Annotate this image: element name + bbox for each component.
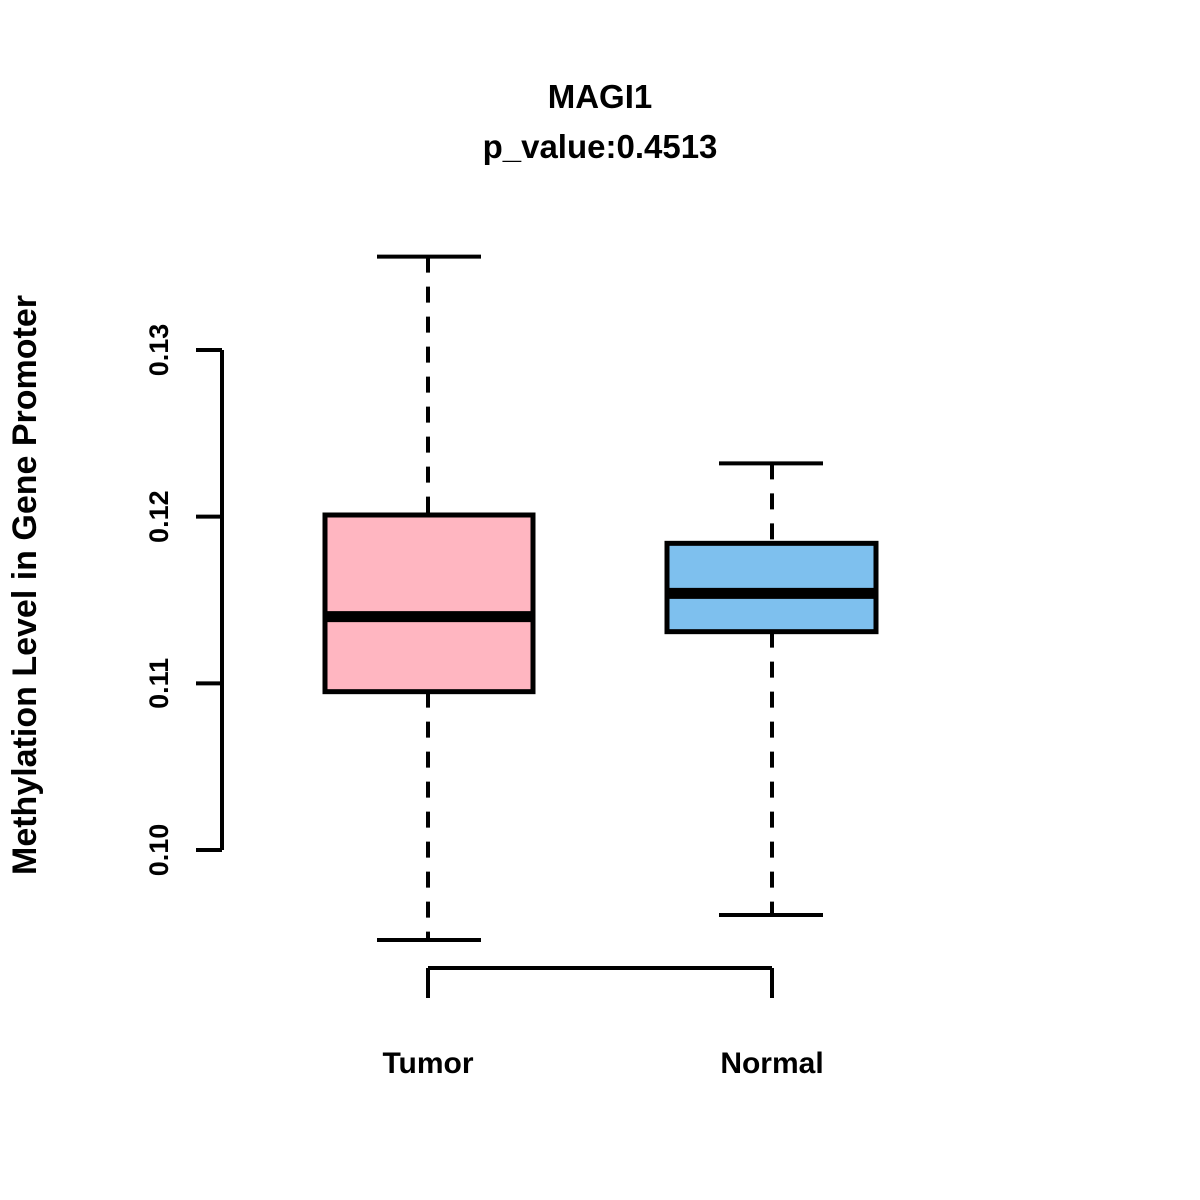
y-axis-title: Methylation Level in Gene Promoter (6, 295, 44, 875)
x-tick-label-tumor: Tumor (382, 1047, 473, 1080)
x-tick-label-normal: Normal (720, 1047, 823, 1080)
chart-subtitle: p_value:0.4513 (483, 128, 718, 165)
boxplot-figure: MAGI1 p_value:0.4513 Methylation Level i… (0, 0, 1200, 1200)
y-tick-label-1: 0.11 (144, 658, 174, 709)
box-tumor[interactable] (325, 515, 533, 692)
boxplot-canvas: MAGI1 p_value:0.4513 Methylation Level i… (0, 0, 1200, 1200)
figure-background (0, 0, 1200, 1200)
chart-title: MAGI1 (548, 78, 653, 115)
box-normal[interactable] (667, 543, 876, 631)
y-tick-label-0: 0.10 (144, 824, 174, 877)
y-tick-label-3: 0.13 (144, 324, 174, 377)
y-tick-label-2: 0.12 (144, 490, 174, 543)
